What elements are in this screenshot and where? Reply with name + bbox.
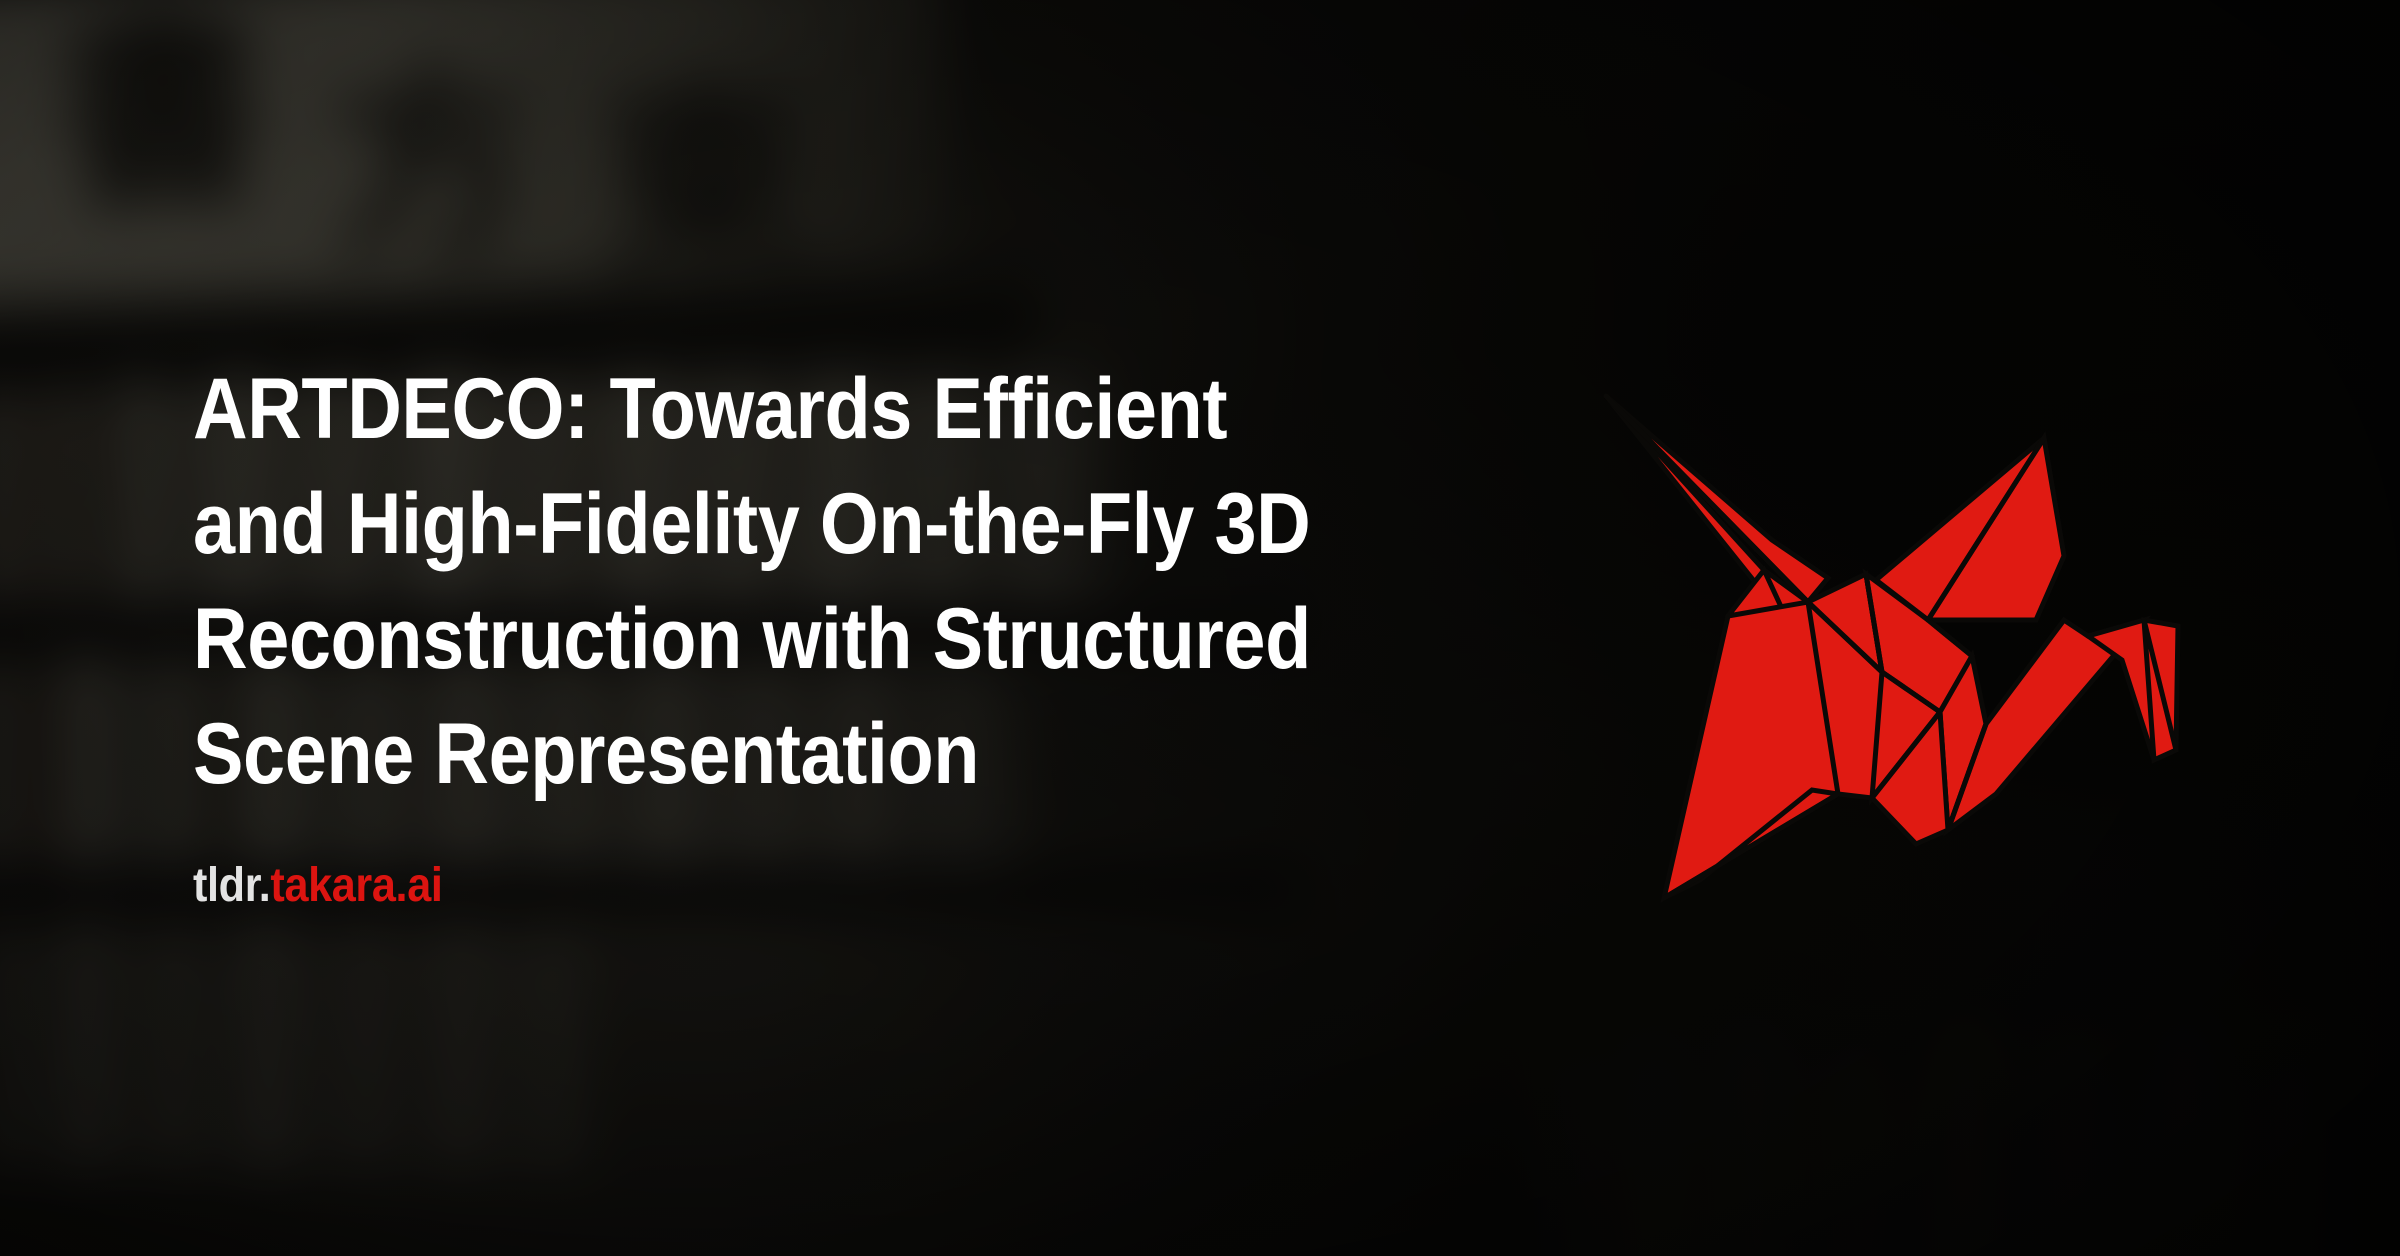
brand-wordmark: tldr.takara.ai [193, 812, 1399, 912]
text-block: ARTDECO: Towards Efficient and High-Fide… [193, 352, 1533, 912]
origami-crane-logo [1576, 320, 2256, 910]
social-card: 書 方 東 [0, 0, 2400, 1256]
brand-dot-separator: . [259, 859, 271, 912]
brand-domain: takara.ai [270, 859, 442, 912]
paper-title: ARTDECO: Towards Efficient and High-Fide… [193, 352, 1372, 812]
origami-crane-icon [1576, 320, 2256, 910]
brand-prefix: tldr [193, 859, 259, 912]
